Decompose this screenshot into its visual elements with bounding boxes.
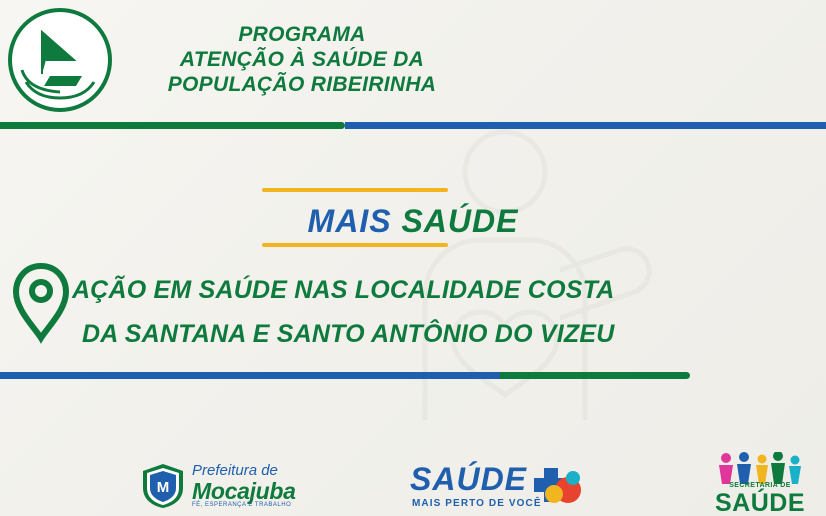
mocajuba-prefecture-label: Prefeitura de xyxy=(192,462,332,479)
mocajuba-motto: FÉ, ESPERANÇA E TRABALHO xyxy=(192,502,332,508)
map-pin-icon xyxy=(8,260,74,356)
mocajuba-wordmark: Prefeitura de Mocajuba FÉ, ESPERANÇA E T… xyxy=(192,462,332,508)
mocajuba-logo: M Prefeitura de Mocajuba FÉ, ESPERANÇA E… xyxy=(140,462,330,512)
saude-tagline: MAIS PERTO DE VOCÊ xyxy=(412,498,542,509)
subtitle-accent: SAÚDE xyxy=(401,203,518,239)
program-title-line3: POPULAÇÃO RIBEIRINHA xyxy=(137,72,467,97)
health-cross-icon xyxy=(528,464,590,508)
subtitle-bottom-accent-bar xyxy=(262,243,448,247)
subtitle-prefix: MAIS xyxy=(308,203,402,239)
footer-divider xyxy=(0,372,826,379)
program-title-line2: ATENÇÃO À SAÚDE DA xyxy=(137,47,467,72)
footer-divider-blue xyxy=(0,372,500,379)
subtitle: MAIS SAÚDE xyxy=(0,203,826,240)
saude-wordmark: SAÚDE xyxy=(410,462,527,496)
mocajuba-city-label: Mocajuba xyxy=(192,479,332,504)
footer-divider-green xyxy=(500,372,690,379)
sespa-small-label: SECRETARIA DE xyxy=(700,482,820,489)
sespa-logo: SECRETARIA DE SAÚDE xyxy=(700,452,820,514)
header-divider xyxy=(0,122,826,129)
headline: AÇÃO EM SAÚDE NAS LOCALIDADE COSTA DA SA… xyxy=(72,268,778,356)
family-people-icon xyxy=(708,452,812,484)
header-divider-blue xyxy=(345,122,826,129)
program-title-line1: PROGRAMA xyxy=(137,22,467,47)
boat-in-hand-circle-logo xyxy=(12,12,108,108)
sespa-wordmark: SAÚDE xyxy=(700,490,820,516)
header-divider-green xyxy=(0,122,345,129)
subtitle-top-accent-bar xyxy=(262,188,448,192)
headline-line1: AÇÃO EM SAÚDE NAS LOCALIDADE COSTA xyxy=(72,268,778,312)
slide-canvas: PROGRAMA ATENÇÃO À SAÚDE DA POPULAÇÃO RI… xyxy=(0,0,826,516)
saude-mais-perto-logo: SAÚDE MAIS PERTO DE VOCÊ xyxy=(410,462,590,514)
svg-text:M: M xyxy=(157,479,170,496)
program-logo-circle xyxy=(8,8,112,112)
headline-line2: DA SANTANA E SANTO ANTÔNIO DO VIZEU xyxy=(72,312,778,356)
program-title: PROGRAMA ATENÇÃO À SAÚDE DA POPULAÇÃO RI… xyxy=(137,22,467,97)
mocajuba-shield-icon: M xyxy=(140,462,186,510)
